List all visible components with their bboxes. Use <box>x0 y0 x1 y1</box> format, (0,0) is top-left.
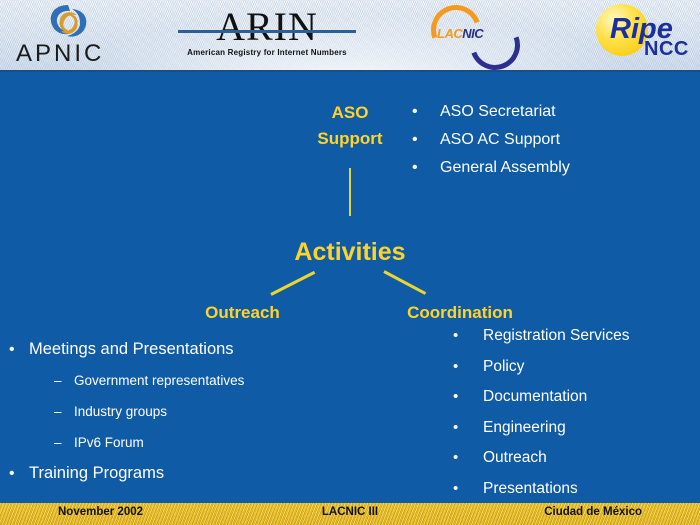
list-item-label: Policy <box>483 358 524 375</box>
list-item-label: General Assembly <box>440 159 570 176</box>
header-logo-band: APNIC ARIN American Registry for Interne… <box>0 0 700 72</box>
list-item: •Training Programs <box>4 458 334 489</box>
lacnic-text-lac: LAC <box>437 26 462 41</box>
apnic-logo-text: APNIC <box>16 40 104 68</box>
coordination-heading: Coordination <box>370 303 550 323</box>
list-item: •General Assembly <box>408 154 693 182</box>
list-item: •ASO AC Support <box>408 126 693 154</box>
coordination-list: •Registration Services •Policy •Document… <box>448 321 700 504</box>
ripe-ncc-logo: Ripe NCC <box>594 2 694 64</box>
bullet-icon: • <box>412 98 418 126</box>
sub-list-item-label: Government representatives <box>74 373 244 388</box>
bullet-icon: • <box>412 154 418 182</box>
sub-list-item: –Industry groups <box>4 396 334 427</box>
bullet-icon: • <box>9 334 15 365</box>
list-item: •Outreach <box>448 443 700 474</box>
list-item-label: ASO AC Support <box>440 131 560 148</box>
sub-list-item: –IPv6 Forum <box>4 427 334 458</box>
list-item: •Meetings and Presentations <box>4 334 334 365</box>
aso-support-heading-line2: Support <box>300 126 400 152</box>
list-item: •Registration Services <box>448 321 700 352</box>
presentation-slide: APNIC ARIN American Registry for Interne… <box>0 0 700 525</box>
bullet-icon: • <box>412 126 418 154</box>
lacnic-wordmark: LACNIC <box>437 26 483 41</box>
sub-list-item-label: IPv6 Forum <box>74 435 144 450</box>
list-item-label: Training Programs <box>29 464 164 482</box>
apnic-swirl-icon <box>44 3 94 43</box>
list-item-label: ASO Secretariat <box>440 103 556 120</box>
list-item-label: Engineering <box>483 419 566 436</box>
connector-vertical-line <box>349 168 351 216</box>
list-item: •Documentation <box>448 382 700 413</box>
list-item: •Presentations <box>448 474 700 505</box>
list-item-label: Presentations <box>483 480 578 497</box>
bullet-icon: • <box>9 458 15 489</box>
slide-footer: November 2002 LACNIC III Ciudad de Méxic… <box>0 501 700 525</box>
aso-support-list: •ASO Secretariat •ASO AC Support •Genera… <box>408 98 693 182</box>
lacnic-text-nic: NIC <box>462 26 483 41</box>
sub-list-item-label: Industry groups <box>74 404 167 419</box>
dash-icon: – <box>54 427 62 458</box>
arin-logo: ARIN American Registry for Internet Numb… <box>176 6 358 62</box>
list-item: •ASO Secretariat <box>408 98 693 126</box>
activities-heading: Activities <box>250 238 450 267</box>
list-item-label: Outreach <box>483 449 547 466</box>
ripe-ncc-text: NCC <box>644 38 689 61</box>
arin-rule-line <box>178 30 356 33</box>
bullet-icon: • <box>453 321 458 352</box>
arin-subtitle: American Registry for Internet Numbers <box>176 48 358 57</box>
list-item: •Policy <box>448 352 700 383</box>
arin-wordmark-text: ARIN <box>176 6 358 48</box>
list-item: •Engineering <box>448 413 700 444</box>
bullet-icon: • <box>453 413 458 444</box>
bullet-icon: • <box>453 382 458 413</box>
outreach-heading: Outreach <box>160 303 325 323</box>
dash-icon: – <box>54 396 62 427</box>
footer-place: Ciudad de México <box>544 506 642 518</box>
list-item-label: Meetings and Presentations <box>29 340 234 358</box>
dash-icon: – <box>54 365 62 396</box>
aso-support-heading-line1: ASO <box>300 100 400 126</box>
outreach-list: •Meetings and Presentations –Government … <box>4 334 334 489</box>
lacnic-logo: LACNIC <box>425 4 520 60</box>
bullet-icon: • <box>453 443 458 474</box>
list-item-label: Documentation <box>483 388 587 405</box>
connector-diagonal-left <box>270 271 315 296</box>
connector-diagonal-right <box>383 270 426 295</box>
bullet-icon: • <box>453 474 458 505</box>
apnic-logo: APNIC <box>10 2 170 68</box>
list-item-label: Registration Services <box>483 327 629 344</box>
bullet-icon: • <box>453 352 458 383</box>
sub-list-item: –Government representatives <box>4 365 334 396</box>
aso-support-heading: ASO Support <box>300 100 400 152</box>
